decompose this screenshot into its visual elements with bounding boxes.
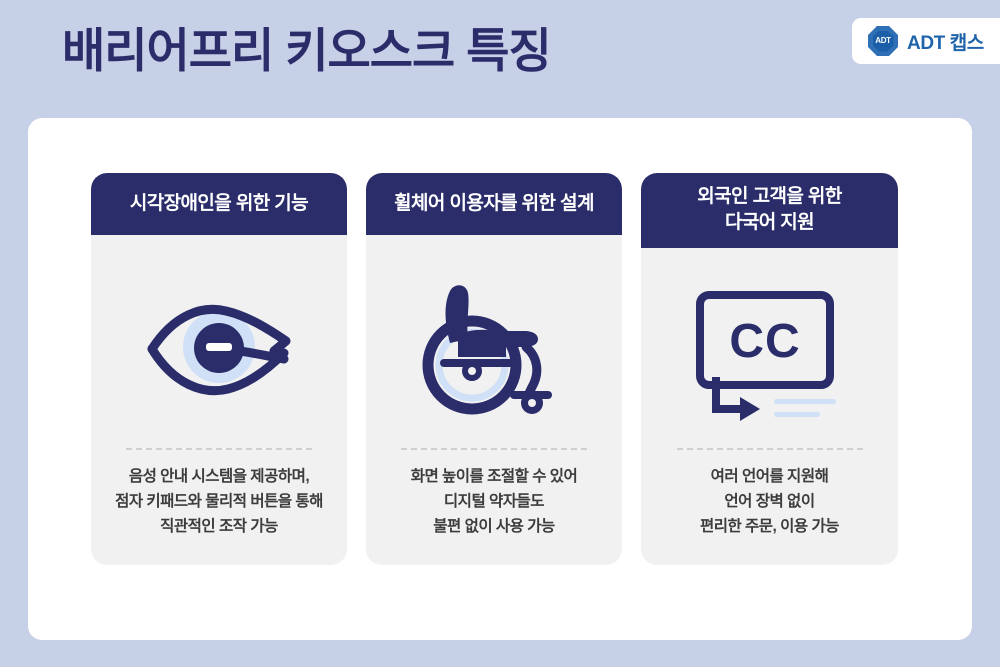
- card-body-line: 디지털 약자들도: [378, 489, 610, 514]
- card-body: 화면 높이를 조절할 수 있어 디지털 약자들도 불편 없이 사용 가능: [366, 464, 622, 565]
- card-divider: [401, 448, 587, 450]
- brand-name: ADT 캡스: [907, 28, 984, 55]
- card-header: 외국인 고객을 위한 다국어 지원: [641, 173, 898, 248]
- card-header-line: 시각장애인을 위한 기능: [130, 191, 308, 217]
- card-divider: [677, 448, 863, 450]
- card-header: 시각장애인을 위한 기능: [91, 173, 347, 235]
- card-body-line: 언어 장벽 없이: [653, 489, 886, 514]
- eye-icon: [91, 235, 347, 448]
- feature-card-visual-impairment: 시각장애인을 위한 기능 음성 안내 시스템을 제공하며, 점자 키패드와 물리…: [91, 173, 347, 565]
- card-body-line: 음성 안내 시스템을 제공하며,: [103, 464, 335, 489]
- content-panel: 시각장애인을 위한 기능 음성 안내 시스템을 제공하며, 점자 키패드와 물리…: [28, 118, 972, 640]
- card-body: 여러 언어를 지원해 언어 장벽 없이 편리한 주문, 이용 가능: [641, 464, 898, 565]
- card-body-line: 여러 언어를 지원해: [653, 464, 886, 489]
- wheelchair-icon: [366, 235, 622, 448]
- card-header-line: 다국어 지원: [725, 212, 814, 233]
- adt-badge-text: ADT: [875, 37, 891, 45]
- feature-card-list: 시각장애인을 위한 기능 음성 안내 시스템을 제공하며, 점자 키패드와 물리…: [91, 173, 911, 565]
- card-header-line: 외국인 고객을 위한: [697, 186, 841, 207]
- card-divider: [126, 448, 312, 450]
- card-body-line: 불편 없이 사용 가능: [378, 514, 610, 539]
- card-body: 음성 안내 시스템을 제공하며, 점자 키패드와 물리적 버튼을 통해 직관적인…: [91, 464, 347, 565]
- svg-text:CC: CC: [729, 315, 800, 368]
- brand-logo: ADT ADT 캡스: [852, 18, 1000, 64]
- card-body-line: 직관적인 조작 가능: [103, 514, 335, 539]
- adt-badge-icon: ADT: [868, 26, 898, 56]
- card-body-line: 점자 키패드와 물리적 버튼을 통해: [103, 489, 335, 514]
- feature-card-wheelchair: 휠체어 이용자를 위한 설계: [366, 173, 622, 565]
- card-header: 휠체어 이용자를 위한 설계: [366, 173, 622, 235]
- closed-caption-icon: CC: [641, 248, 898, 447]
- card-header-line: 휠체어 이용자를 위한 설계: [394, 191, 594, 217]
- card-body-line: 화면 높이를 조절할 수 있어: [378, 464, 610, 489]
- feature-card-multilingual: 외국인 고객을 위한 다국어 지원 CC: [641, 173, 898, 565]
- card-body-line: 편리한 주문, 이용 가능: [653, 514, 886, 539]
- page-title: 배리어프리 키오스크 특징: [62, 22, 551, 81]
